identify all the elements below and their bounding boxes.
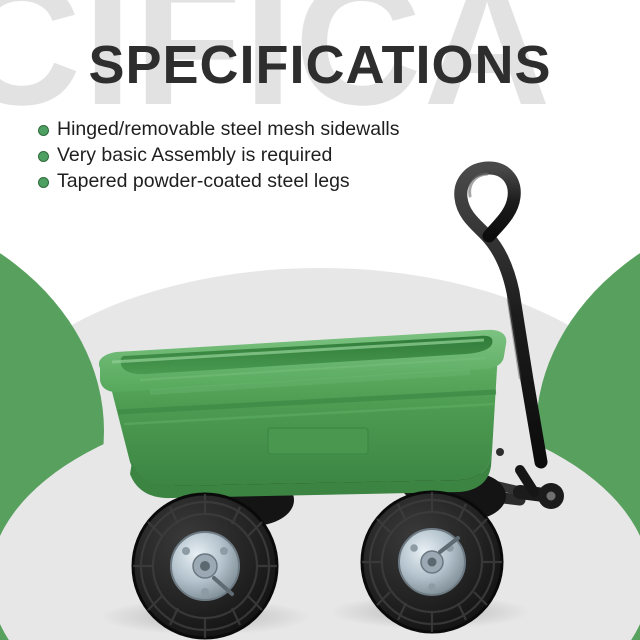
cart-bed [99,330,506,498]
product-image [0,0,640,640]
wheel-rear [362,492,502,632]
wheel-front [133,494,277,638]
specification-card: CIFICA SPECIFICATIONS Hinged/removable s… [0,0,640,640]
bed-fastener [496,448,504,456]
